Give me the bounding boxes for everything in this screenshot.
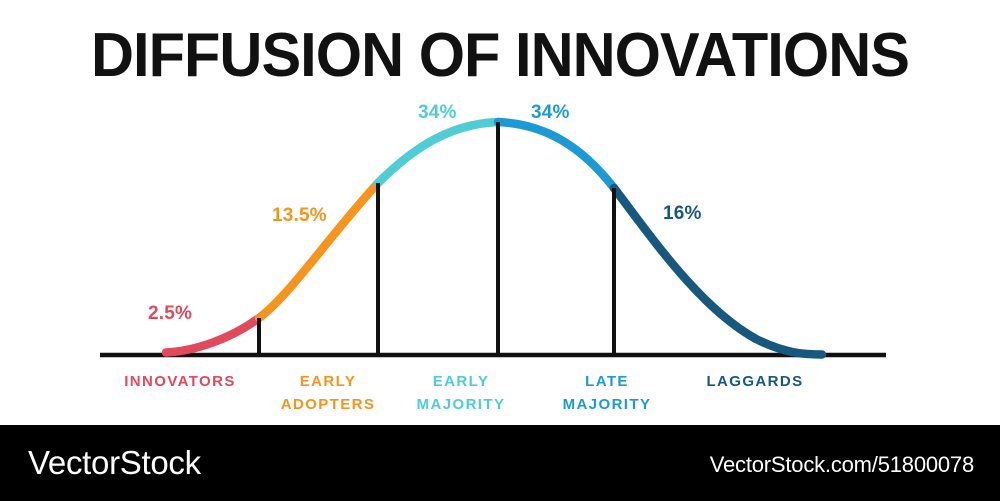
curve-segment-laggards [614, 188, 822, 355]
brand-wordmark: VectorStock [28, 444, 201, 482]
value-label-early-adopters: 13.5% [272, 205, 327, 227]
category-label-innovators-line1: INNOVATORS [124, 370, 236, 393]
category-label-late-majority: LATE MAJORITY [563, 370, 652, 416]
category-label-early-majority-line2: MAJORITY [417, 393, 506, 416]
page-title: DIFFUSION OF INNOVATIONS [20, 22, 980, 90]
diffusion-curve-chart: 2.5% 13.5% 34% 34% 16% [0, 95, 1000, 385]
value-label-laggards: 16% [663, 203, 702, 225]
curve-segment-early-adopters [259, 183, 378, 318]
source-url-text: VectorStock.com/51800078 [710, 452, 974, 478]
category-label-early-adopters: EARLY ADOPTERS [281, 370, 376, 416]
category-label-early-adopters-line2: ADOPTERS [281, 393, 376, 416]
category-label-late-majority-line2: MAJORITY [563, 393, 652, 416]
poster-canvas: DIFFUSION OF INNOVATIONS 2.5% 13.5% 3 [0, 0, 1000, 501]
curve-segment-early-majority [378, 122, 498, 183]
bell-curve-svg [0, 95, 1000, 385]
watermark-footer: VectorStock VectorStock.com/51800078 [0, 425, 1000, 501]
category-label-late-majority-line1: LATE [563, 370, 652, 393]
category-label-early-adopters-line1: EARLY [281, 370, 376, 393]
category-label-early-majority-line1: EARLY [417, 370, 506, 393]
category-label-early-majority: EARLY MAJORITY [417, 370, 506, 416]
category-label-innovators: INNOVATORS [124, 370, 236, 393]
curve-segment-late-majority [498, 122, 614, 188]
category-label-laggards: LAGGARDS [706, 370, 803, 393]
category-label-laggards-line1: LAGGARDS [706, 370, 803, 393]
value-label-late-majority: 34% [531, 102, 570, 124]
value-label-innovators: 2.5% [148, 303, 192, 325]
value-label-early-majority: 34% [418, 102, 457, 124]
